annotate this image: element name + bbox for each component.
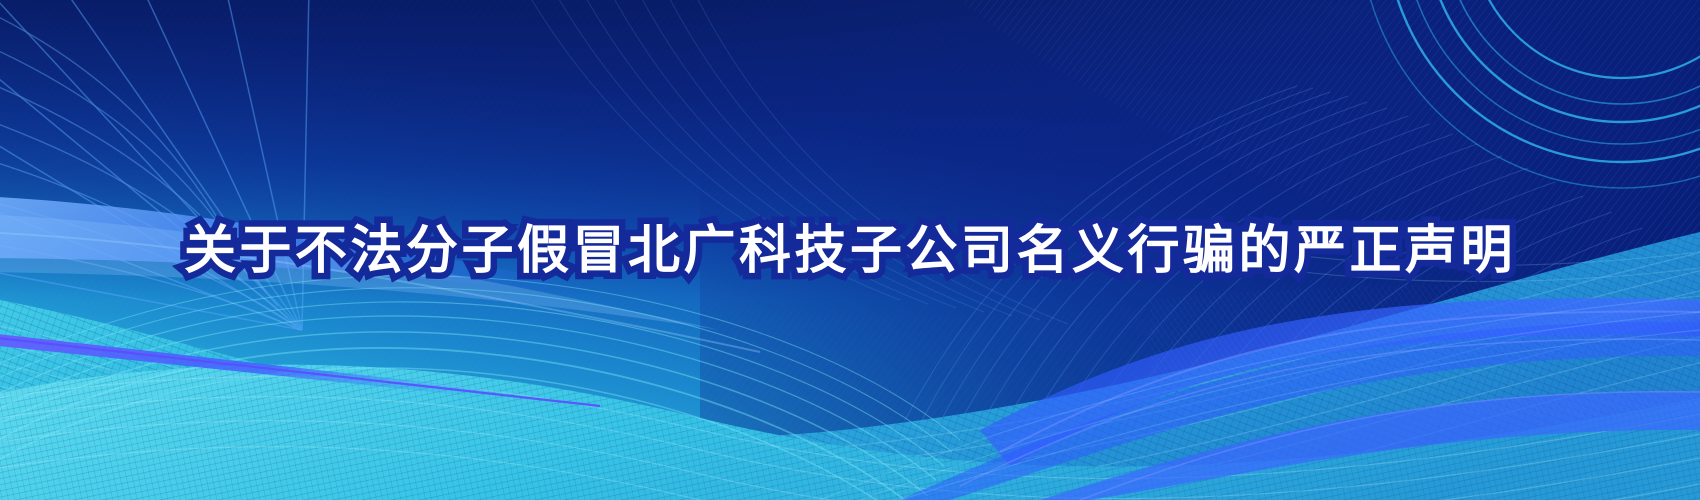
announcement-banner: 关于不法分子假冒北广科技子公司名义行骗的严正声明 关于不法分子假冒北广科技子公司…: [0, 0, 1700, 500]
bottom-right-ribbon-curves: [900, 268, 1700, 500]
top-right-arc-rings: [1360, 0, 1700, 188]
bottom-wave-glow: [270, 342, 1130, 500]
banner-title: 关于不法分子假冒北广科技子公司名义行骗的严正声明 关于不法分子假冒北广科技子公司…: [184, 225, 1516, 277]
banner-title-container: 关于不法分子假冒北广科技子公司名义行骗的严正声明 关于不法分子假冒北广科技子公司…: [0, 206, 1700, 296]
upper-right-hatch-field: [0, 120, 1700, 500]
banner-title-text: 关于不法分子假冒北广科技子公司名义行骗的严正声明: [184, 221, 1516, 281]
violet-diagonal-beam: [0, 332, 620, 412]
cyan-wave-band-2: [0, 330, 1700, 500]
bottom-left-wave-arcs: [0, 276, 960, 500]
